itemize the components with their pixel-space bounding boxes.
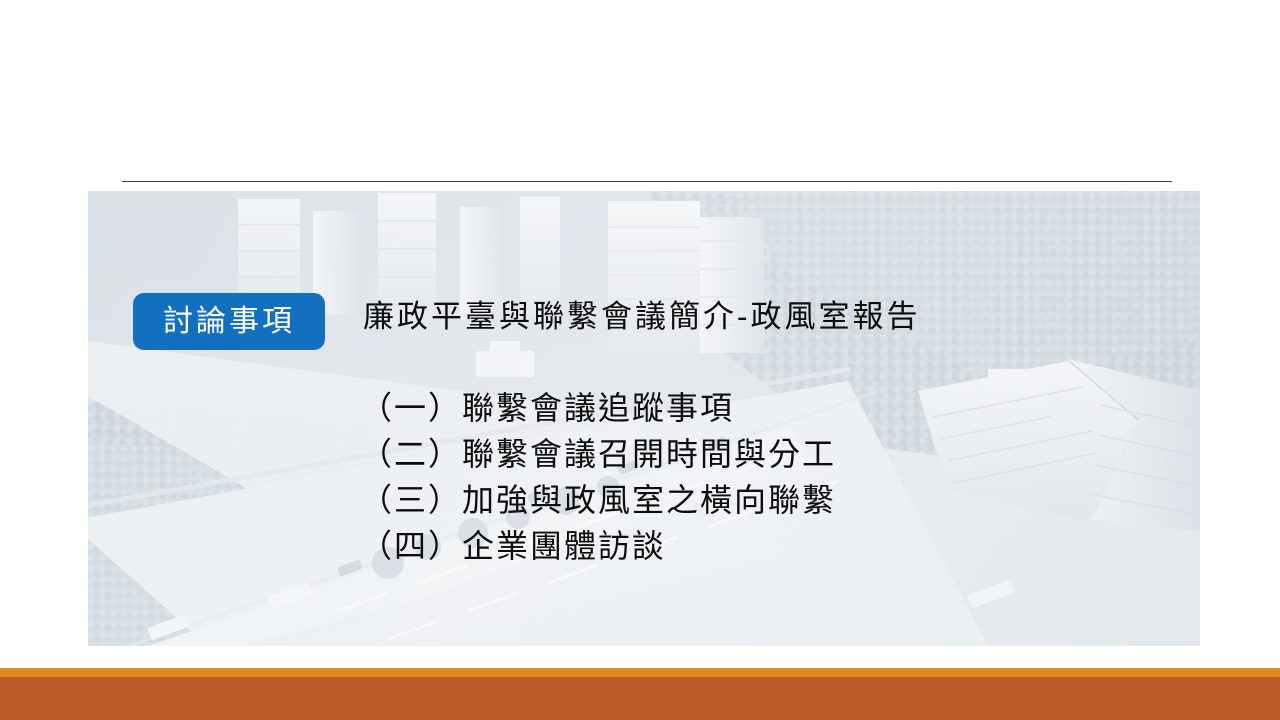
header-divider-rule (122, 181, 1172, 182)
slide: 討論事項 廉政平臺與聯繫會議簡介-政風室報告 （一）聯繫會議追蹤事項 （二）聯繫… (0, 0, 1280, 720)
agenda-item-4: （四）企業團體訪談 (360, 523, 836, 569)
slide-content: 討論事項 廉政平臺與聯繫會議簡介-政風室報告 （一）聯繫會議追蹤事項 （二）聯繫… (88, 191, 1200, 646)
section-badge: 討論事項 (133, 293, 325, 350)
agenda-item-2: （二）聯繫會議召開時間與分工 (360, 431, 836, 477)
slide-headline: 廉政平臺與聯繫會議簡介-政風室報告 (363, 299, 920, 336)
background-photo-panel: 討論事項 廉政平臺與聯繫會議簡介-政風室報告 （一）聯繫會議追蹤事項 （二）聯繫… (88, 191, 1200, 646)
agenda-list: （一）聯繫會議追蹤事項 （二）聯繫會議召開時間與分工 （三）加強與政風室之橫向聯… (360, 385, 836, 569)
footer-bar-amber (0, 668, 1280, 677)
agenda-item-1: （一）聯繫會議追蹤事項 (360, 385, 836, 431)
section-badge-label: 討論事項 (163, 307, 295, 337)
footer-bar-terracotta (0, 677, 1280, 720)
agenda-item-3: （三）加強與政風室之橫向聯繫 (360, 477, 836, 523)
